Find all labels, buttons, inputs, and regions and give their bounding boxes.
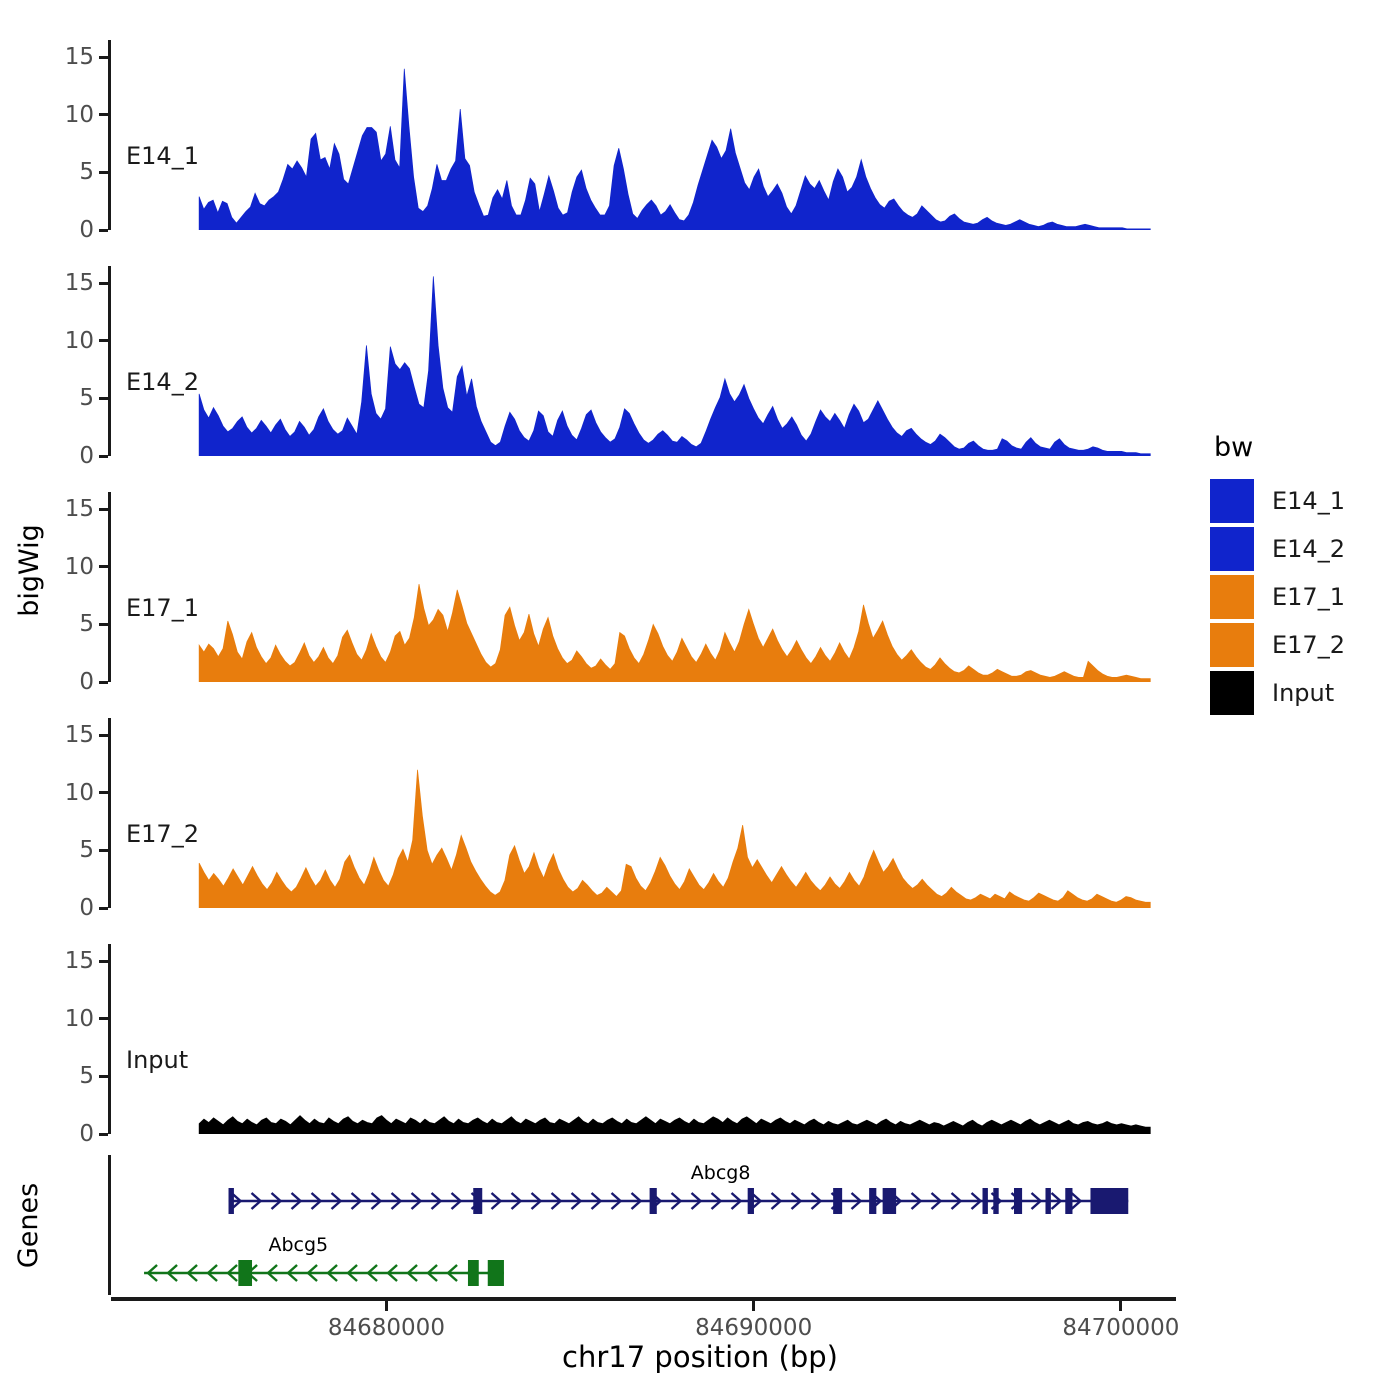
signal-svg	[111, 718, 1176, 908]
x-tick-label: 84700000	[1062, 1315, 1179, 1341]
track-panel-e14_2: 051015E14_2	[108, 266, 1176, 456]
y-tick-label: 0	[79, 442, 94, 470]
y-tick-mark	[99, 1017, 108, 1020]
x-tick-mark	[1119, 1301, 1122, 1311]
x-axis-title: chr17 position (bp)	[0, 1340, 1400, 1374]
track-panel-e17_1: 051015E17_1	[108, 492, 1176, 682]
legend-label: E17_1	[1272, 583, 1345, 611]
legend-title: bw	[1214, 432, 1345, 463]
y-tick-label: 10	[65, 553, 94, 581]
y-tick-mark	[99, 849, 108, 852]
exon-block	[1090, 1188, 1128, 1214]
signal-path	[199, 770, 1150, 908]
exon-block	[983, 1188, 988, 1214]
legend-swatch	[1210, 671, 1254, 715]
exon-block	[883, 1188, 896, 1214]
x-axis-line	[111, 1297, 1176, 1301]
y-tick-label: 10	[65, 1005, 94, 1033]
exon-block	[238, 1260, 252, 1286]
y-tick-mark	[99, 282, 108, 285]
signal-path	[199, 584, 1150, 682]
legend-label: E17_2	[1272, 631, 1345, 659]
legend-label: E14_2	[1272, 535, 1345, 563]
exon-block	[1065, 1188, 1072, 1214]
y-tick-label: 0	[79, 894, 94, 922]
signal-area-e14_1	[111, 40, 1176, 230]
genes-drawing-area: Abcg8Abcg5	[111, 1155, 1173, 1295]
genes-axis-title: Genes	[6, 1150, 52, 1300]
signal-svg	[111, 266, 1176, 456]
exon-block	[488, 1260, 504, 1286]
y-axis-title: bigWig	[6, 0, 52, 1140]
track-panel-input: 051015Input	[108, 944, 1176, 1134]
exon-block	[229, 1188, 234, 1214]
y-tick-label: 5	[79, 610, 94, 638]
y-tick-mark	[99, 791, 108, 794]
signal-area-e17_1	[111, 492, 1176, 682]
signal-area-e17_2	[111, 718, 1176, 908]
exon-block	[468, 1260, 479, 1286]
y-tick-label: 15	[65, 721, 94, 749]
legend-items: E14_1E14_2E17_1E17_2Input	[1210, 477, 1345, 717]
genes-panel: Abcg8Abcg5	[108, 1155, 1173, 1295]
signal-path	[199, 276, 1150, 456]
signal-area-input	[111, 944, 1176, 1134]
y-tick-label: 10	[65, 327, 94, 355]
signal-path	[199, 1116, 1150, 1134]
legend-item-e14_2[interactable]: E14_2	[1210, 525, 1345, 573]
y-tick-label: 15	[65, 269, 94, 297]
y-tick-label: 15	[65, 947, 94, 975]
x-tick-mark	[752, 1301, 755, 1311]
legend-item-e17_1[interactable]: E17_1	[1210, 573, 1345, 621]
y-tick-mark	[99, 56, 108, 59]
track-panel-e17_2: 051015E17_2	[108, 718, 1176, 908]
exon-block	[1045, 1188, 1050, 1214]
legend-swatch	[1210, 479, 1254, 523]
signal-svg	[111, 492, 1176, 682]
y-tick-mark	[99, 1133, 108, 1136]
y-tick-label: 5	[79, 1062, 94, 1090]
legend-swatch	[1210, 575, 1254, 619]
legend-item-e17_2[interactable]: E17_2	[1210, 621, 1345, 669]
y-tick-mark	[99, 960, 108, 963]
y-tick-mark	[99, 397, 108, 400]
gene-label: Abcg8	[691, 1162, 751, 1184]
y-tick-label: 5	[79, 158, 94, 186]
y-tick-label: 5	[79, 836, 94, 864]
signal-area-e14_2	[111, 266, 1176, 456]
y-tick-label: 0	[79, 1120, 94, 1148]
y-tick-label: 10	[65, 101, 94, 129]
y-tick-mark	[99, 339, 108, 342]
y-tick-label: 10	[65, 779, 94, 807]
y-tick-label: 5	[79, 384, 94, 412]
exon-block	[833, 1188, 842, 1214]
signal-path	[199, 69, 1150, 230]
y-tick-mark	[99, 508, 108, 511]
y-tick-mark	[99, 734, 108, 737]
x-tick-label: 84680000	[328, 1315, 445, 1341]
legend-label: Input	[1272, 679, 1334, 707]
legend-swatch	[1210, 623, 1254, 667]
y-tick-label: 0	[79, 216, 94, 244]
y-tick-mark	[99, 171, 108, 174]
legend-item-input[interactable]: Input	[1210, 669, 1345, 717]
y-tick-mark	[99, 681, 108, 684]
signal-svg	[111, 40, 1176, 230]
legend-item-e14_1[interactable]: E14_1	[1210, 477, 1345, 525]
exon-block	[869, 1188, 876, 1214]
exon-block	[650, 1188, 657, 1214]
gene-label: Abcg5	[268, 1234, 328, 1256]
y-tick-mark	[99, 455, 108, 458]
legend: bw E14_1E14_2E17_1E17_2Input	[1210, 432, 1345, 717]
gene-abcg5[interactable]: Abcg5	[144, 1234, 504, 1286]
x-tick-mark	[385, 1301, 388, 1311]
genes-svg: Abcg8Abcg5	[111, 1155, 1176, 1295]
x-tick-label: 84690000	[695, 1315, 812, 1341]
legend-swatch	[1210, 527, 1254, 571]
y-tick-mark	[99, 907, 108, 910]
track-panel-e14_1: 051015E14_1	[108, 40, 1176, 230]
y-tick-label: 15	[65, 43, 94, 71]
y-tick-mark	[99, 1075, 108, 1078]
y-tick-mark	[99, 565, 108, 568]
gene-abcg8[interactable]: Abcg8	[229, 1162, 1129, 1214]
y-tick-mark	[99, 623, 108, 626]
exon-block	[993, 1188, 998, 1214]
exon-block	[473, 1188, 482, 1214]
exon-block	[748, 1188, 754, 1214]
legend-label: E14_1	[1272, 487, 1345, 515]
y-tick-label: 15	[65, 495, 94, 523]
exon-block	[1014, 1188, 1022, 1214]
y-tick-mark	[99, 229, 108, 232]
y-tick-label: 0	[79, 668, 94, 696]
y-tick-mark	[99, 113, 108, 116]
signal-svg	[111, 944, 1176, 1134]
